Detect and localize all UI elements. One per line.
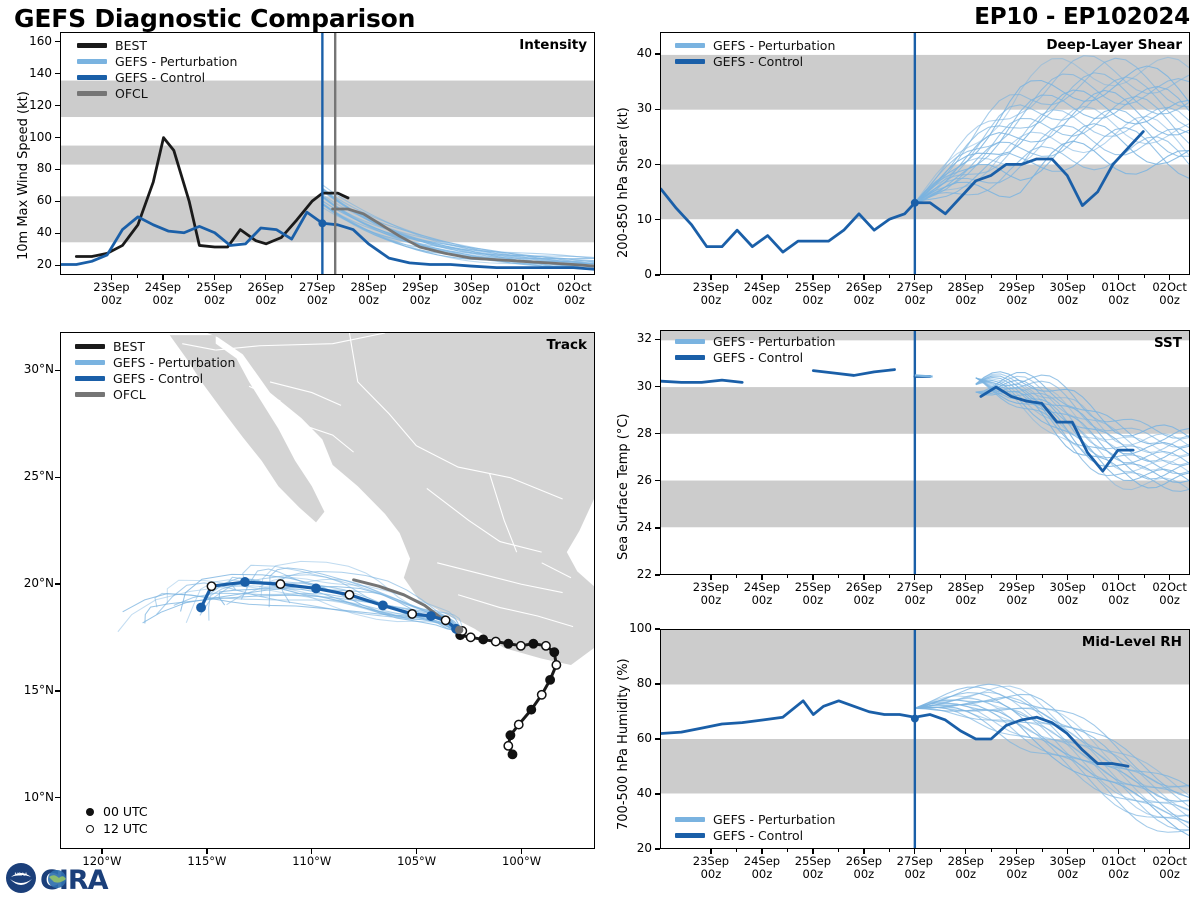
x-tick-mark xyxy=(471,275,472,280)
x-tick-mark xyxy=(111,275,112,280)
x-minor-tick-mark xyxy=(889,575,890,578)
legend-row: GEFS - Control xyxy=(675,54,835,69)
legend-label: GEFS - Control xyxy=(713,350,803,365)
x-tick-date: 28Sep xyxy=(350,280,386,294)
x-tick-hour: 00z xyxy=(410,293,431,307)
x-tick-mark xyxy=(710,275,711,280)
legend-swatch xyxy=(675,833,705,838)
x-tick-date: 28Sep xyxy=(948,580,984,594)
x-minor-tick-mark xyxy=(394,275,395,278)
lon-tick-label: 110°W xyxy=(277,855,347,868)
track-marker-00utc xyxy=(427,612,435,620)
lat-tick-label: 15°N xyxy=(6,683,54,697)
track-marker-12utc xyxy=(441,616,449,624)
y-tick-label: 40 xyxy=(12,225,52,239)
x-tick-mark xyxy=(761,575,762,580)
x-tick-date: 25Sep xyxy=(795,854,831,868)
y-tick-mark xyxy=(655,683,660,684)
sst-panel-title: SST xyxy=(1154,335,1182,351)
y-tick-label: 20 xyxy=(612,841,652,855)
legend-label: GEFS - Perturbation xyxy=(713,334,835,349)
y-tick-mark xyxy=(55,73,60,74)
y-tick-label: 24 xyxy=(612,520,652,534)
x-minor-tick-mark xyxy=(1042,275,1043,278)
track-marker-12utc xyxy=(542,642,550,650)
track-marker-00utc xyxy=(197,603,205,611)
lat-tick-mark xyxy=(55,583,60,584)
x-minor-tick-mark xyxy=(889,849,890,852)
x-tick-hour: 00z xyxy=(564,293,585,307)
control-line xyxy=(661,380,742,382)
x-tick-hour: 00z xyxy=(854,293,875,307)
x-tick-date: 23Sep xyxy=(93,280,129,294)
lat-tick-label: 20°N xyxy=(6,576,54,590)
lon-tick-mark xyxy=(416,849,417,854)
x-minor-tick-mark xyxy=(548,275,549,278)
x-minor-tick-mark xyxy=(240,275,241,278)
lat-tick-label: 30°N xyxy=(6,362,54,376)
x-tick-date: 01Oct xyxy=(1101,580,1136,594)
y-tick-label: 80 xyxy=(612,676,652,690)
y-tick-label: 28 xyxy=(612,426,652,440)
sst-legend: GEFS - PerturbationGEFS - Control xyxy=(675,334,835,366)
x-tick-mark xyxy=(863,575,864,580)
x-minor-tick-mark xyxy=(940,275,941,278)
x-tick-date: 24Sep xyxy=(744,280,780,294)
track-marker-00utc xyxy=(546,676,554,684)
shaded-band xyxy=(661,481,1189,528)
legend-swatch xyxy=(77,59,107,64)
x-minor-tick-mark xyxy=(291,275,292,278)
marker-legend-dot-wrap xyxy=(77,808,103,816)
rh-panel: Mid-Level RH GEFS - PerturbationGEFS - C… xyxy=(660,629,1190,849)
y-tick-label: 30 xyxy=(612,101,652,115)
y-tick-label: 32 xyxy=(612,331,652,345)
track-marker-12utc xyxy=(276,580,284,588)
x-tick-date: 28Sep xyxy=(948,280,984,294)
marker-legend-row: 12 UTC xyxy=(77,820,148,837)
x-tick-date: 26Sep xyxy=(846,280,882,294)
legend-row: GEFS - Control xyxy=(675,350,835,365)
x-tick-mark xyxy=(710,575,711,580)
sst-panel: SST GEFS - PerturbationGEFS - Control xyxy=(660,330,1190,575)
legend-label: GEFS - Perturbation xyxy=(115,54,237,69)
x-tick-date: 30Sep xyxy=(453,280,489,294)
y-tick-label: 26 xyxy=(612,473,652,487)
x-minor-tick-mark xyxy=(787,849,788,852)
track-marker-00utc xyxy=(504,640,512,648)
legend-label: GEFS - Control xyxy=(713,828,803,843)
x-tick-date: 02Oct xyxy=(1152,580,1187,594)
x-tick-mark xyxy=(1169,575,1170,580)
x-minor-tick-mark xyxy=(1093,275,1094,278)
legend-row: BEST xyxy=(77,38,237,53)
x-tick-mark xyxy=(419,275,420,280)
intensity-legend: BESTGEFS - PerturbationGEFS - ControlOFC… xyxy=(77,38,237,102)
lat-tick-label: 25°N xyxy=(6,469,54,483)
x-minor-tick-mark xyxy=(940,849,941,852)
x-tick-hour: 00z xyxy=(358,293,379,307)
track-marker-00utc xyxy=(508,750,516,758)
y-tick-mark xyxy=(655,433,660,434)
legend-swatch xyxy=(75,376,105,381)
y-tick-mark xyxy=(655,738,660,739)
x-tick-mark xyxy=(574,275,575,280)
open-circle-icon xyxy=(86,825,94,833)
x-tick-hour: 00z xyxy=(1006,867,1027,881)
filled-circle-icon xyxy=(86,808,94,816)
legend-label: OFCL xyxy=(113,387,146,402)
x-tick-hour: 00z xyxy=(513,293,534,307)
x-tick-hour: 00z xyxy=(803,867,824,881)
y-tick-label: 10 xyxy=(612,212,652,226)
x-minor-tick-mark xyxy=(736,849,737,852)
x-tick-date: 26Sep xyxy=(846,854,882,868)
legend-label: OFCL xyxy=(115,86,148,101)
x-tick-label: 02Oct00z xyxy=(1137,855,1200,881)
y-tick-mark xyxy=(655,339,660,340)
legend-row: GEFS - Control xyxy=(675,828,835,843)
x-tick-hour: 00z xyxy=(904,593,925,607)
noaa-logo: NOAA xyxy=(6,863,36,893)
x-minor-tick-mark xyxy=(838,575,839,578)
y-tick-mark xyxy=(655,628,660,629)
track-marker-00utc xyxy=(479,635,487,643)
track-marker-00utc xyxy=(550,648,558,656)
x-tick-date: 29Sep xyxy=(402,280,438,294)
x-tick-date: 02Oct xyxy=(557,280,592,294)
x-tick-hour: 00z xyxy=(1057,293,1078,307)
x-tick-mark xyxy=(1169,275,1170,280)
legend-swatch xyxy=(675,59,705,64)
x-tick-mark xyxy=(812,275,813,280)
x-tick-hour: 00z xyxy=(701,293,722,307)
shear-y-axis-label: 200-850 hPa Shear (kt) xyxy=(616,107,631,258)
y-tick-mark xyxy=(655,386,660,387)
x-tick-date: 01Oct xyxy=(1101,854,1136,868)
y-tick-label: 60 xyxy=(612,731,652,745)
track-marker-12utc xyxy=(408,610,416,618)
init-marker-dot xyxy=(911,199,919,207)
svg-text:NOAA: NOAA xyxy=(14,872,28,878)
x-minor-tick-mark xyxy=(991,275,992,278)
x-tick-hour: 00z xyxy=(1057,593,1078,607)
x-tick-hour: 00z xyxy=(752,867,773,881)
x-tick-date: 27Sep xyxy=(897,280,933,294)
track-marker-12utc xyxy=(466,633,474,641)
lon-tick-label: 105°W xyxy=(382,855,452,868)
x-tick-date: 27Sep xyxy=(299,280,335,294)
x-tick-hour: 00z xyxy=(1057,867,1078,881)
x-tick-mark xyxy=(761,849,762,854)
x-minor-tick-mark xyxy=(838,849,839,852)
track-marker-12utc xyxy=(504,742,512,750)
y-tick-mark xyxy=(55,201,60,202)
x-minor-tick-mark xyxy=(1042,575,1043,578)
y-tick-mark xyxy=(55,105,60,106)
x-tick-mark xyxy=(1118,275,1119,280)
x-tick-mark xyxy=(522,275,523,280)
y-tick-mark xyxy=(655,793,660,794)
x-tick-hour: 00z xyxy=(752,293,773,307)
shaded-band xyxy=(61,146,594,165)
x-tick-mark xyxy=(1118,575,1119,580)
x-tick-hour: 00z xyxy=(854,593,875,607)
x-tick-mark xyxy=(761,275,762,280)
x-minor-tick-mark xyxy=(838,275,839,278)
legend-row: GEFS - Perturbation xyxy=(77,54,237,69)
y-tick-label: 40 xyxy=(612,46,652,60)
x-tick-hour: 00z xyxy=(153,293,174,307)
x-tick-mark xyxy=(1169,849,1170,854)
lat-tick-mark xyxy=(55,477,60,478)
cira-logo: CIRA xyxy=(40,865,109,896)
x-tick-hour: 00z xyxy=(1108,293,1129,307)
track-marker-00utc xyxy=(241,578,249,586)
legend-row: GEFS - Perturbation xyxy=(675,812,835,827)
x-tick-hour: 00z xyxy=(307,293,328,307)
x-tick-mark xyxy=(914,275,915,280)
legend-label: GEFS - Perturbation xyxy=(113,355,235,370)
x-minor-tick-mark xyxy=(787,575,788,578)
x-tick-hour: 00z xyxy=(255,293,276,307)
x-tick-hour: 00z xyxy=(904,867,925,881)
y-tick-mark xyxy=(55,137,60,138)
x-tick-hour: 00z xyxy=(1159,867,1180,881)
legend-row: GEFS - Perturbation xyxy=(675,38,835,53)
y-tick-mark xyxy=(55,233,60,234)
x-tick-label: 02Oct00z xyxy=(541,281,607,307)
x-tick-mark xyxy=(1118,849,1119,854)
legend-label: BEST xyxy=(115,38,147,53)
legend-row: GEFS - Perturbation xyxy=(675,334,835,349)
x-tick-mark xyxy=(914,575,915,580)
y-tick-mark xyxy=(55,41,60,42)
shear-panel-title: Deep-Layer Shear xyxy=(1046,37,1182,53)
y-tick-label: 100 xyxy=(612,621,652,635)
y-tick-mark xyxy=(55,169,60,170)
x-tick-date: 30Sep xyxy=(1050,854,1086,868)
marker-legend-label: 00 UTC xyxy=(103,804,148,819)
x-tick-hour: 00z xyxy=(1108,867,1129,881)
x-tick-date: 25Sep xyxy=(795,580,831,594)
x-tick-date: 01Oct xyxy=(1101,280,1136,294)
y-tick-mark xyxy=(655,848,660,849)
x-tick-date: 27Sep xyxy=(897,854,933,868)
track-map-area xyxy=(61,333,594,848)
y-tick-mark xyxy=(655,164,660,165)
x-tick-mark xyxy=(1067,849,1068,854)
x-tick-date: 29Sep xyxy=(999,580,1035,594)
shear-panel: Deep-Layer Shear GEFS - PerturbationGEFS… xyxy=(660,32,1190,275)
track-marker-00utc xyxy=(527,705,535,713)
legend-label: GEFS - Control xyxy=(713,54,803,69)
x-tick-mark xyxy=(863,849,864,854)
x-tick-hour: 00z xyxy=(701,867,722,881)
x-tick-hour: 00z xyxy=(1159,593,1180,607)
legend-row: GEFS - Control xyxy=(77,70,237,85)
track-marker-12utc xyxy=(207,582,215,590)
y-tick-label: 30 xyxy=(612,379,652,393)
control-line xyxy=(813,370,894,376)
x-tick-mark xyxy=(1067,275,1068,280)
x-tick-hour: 00z xyxy=(803,593,824,607)
track-marker-00utc xyxy=(379,601,387,609)
x-tick-mark xyxy=(214,275,215,280)
x-tick-hour: 00z xyxy=(701,593,722,607)
track-legend: BESTGEFS - PerturbationGEFS - ControlOFC… xyxy=(75,339,235,403)
x-tick-date: 24Sep xyxy=(744,854,780,868)
x-tick-hour: 00z xyxy=(955,867,976,881)
x-tick-mark xyxy=(368,275,369,280)
x-minor-tick-mark xyxy=(1144,575,1145,578)
x-tick-label: 02Oct00z xyxy=(1137,281,1200,307)
x-tick-hour: 00z xyxy=(752,593,773,607)
x-minor-tick-mark xyxy=(497,275,498,278)
x-tick-mark xyxy=(1016,849,1017,854)
x-tick-date: 28Sep xyxy=(948,854,984,868)
legend-swatch xyxy=(675,43,705,48)
x-tick-hour: 00z xyxy=(955,593,976,607)
legend-swatch xyxy=(675,355,705,360)
legend-label: BEST xyxy=(113,339,145,354)
x-tick-mark xyxy=(265,275,266,280)
x-minor-tick-mark xyxy=(137,275,138,278)
ofcl-endpoint-marker xyxy=(455,626,463,634)
x-minor-tick-mark xyxy=(991,849,992,852)
y-tick-label: 120 xyxy=(12,98,52,112)
legend-row: GEFS - Control xyxy=(75,371,235,386)
y-tick-mark xyxy=(655,274,660,275)
legend-row: OFCL xyxy=(75,387,235,402)
track-panel: Track BESTGEFS - PerturbationGEFS - Cont… xyxy=(60,332,595,849)
intensity-panel: Intensity BESTGEFS - PerturbationGEFS - … xyxy=(60,32,595,275)
x-minor-tick-mark xyxy=(188,275,189,278)
legend-label: GEFS - Perturbation xyxy=(713,38,835,53)
x-tick-date: 24Sep xyxy=(145,280,181,294)
x-tick-mark xyxy=(1016,575,1017,580)
lon-tick-label: 115°W xyxy=(172,855,242,868)
marker-legend-label: 12 UTC xyxy=(103,821,148,836)
track-marker-legend: 00 UTC12 UTC xyxy=(77,803,148,837)
legend-label: GEFS - Perturbation xyxy=(713,812,835,827)
x-minor-tick-mark xyxy=(889,275,890,278)
figure-root: GEFS Diagnostic Comparison EP10 - EP1020… xyxy=(0,0,1200,900)
x-minor-tick-mark xyxy=(342,275,343,278)
x-tick-mark xyxy=(863,275,864,280)
x-tick-mark xyxy=(812,575,813,580)
x-tick-mark xyxy=(710,849,711,854)
x-tick-mark xyxy=(812,849,813,854)
legend-label: GEFS - Control xyxy=(115,70,205,85)
track-panel-title: Track xyxy=(547,337,587,353)
x-minor-tick-mark xyxy=(991,575,992,578)
x-tick-hour: 00z xyxy=(461,293,482,307)
track-marker-00utc xyxy=(312,584,320,592)
y-tick-label: 100 xyxy=(12,130,52,144)
intensity-panel-title: Intensity xyxy=(519,37,587,53)
x-tick-hour: 00z xyxy=(904,293,925,307)
lat-tick-label: 10°N xyxy=(6,790,54,804)
x-tick-date: 23Sep xyxy=(693,280,729,294)
y-tick-mark xyxy=(655,480,660,481)
legend-row: GEFS - Perturbation xyxy=(75,355,235,370)
x-tick-hour: 00z xyxy=(854,867,875,881)
x-tick-date: 23Sep xyxy=(693,580,729,594)
x-tick-hour: 00z xyxy=(1159,293,1180,307)
x-minor-tick-mark xyxy=(1093,849,1094,852)
lat-tick-mark xyxy=(55,690,60,691)
shear-legend: GEFS - PerturbationGEFS - Control xyxy=(675,38,835,70)
x-tick-mark xyxy=(965,575,966,580)
y-tick-mark xyxy=(655,109,660,110)
x-minor-tick-mark xyxy=(787,275,788,278)
x-tick-date: 30Sep xyxy=(1050,280,1086,294)
legend-swatch xyxy=(75,344,105,349)
x-tick-date: 02Oct xyxy=(1152,854,1187,868)
track-marker-12utc xyxy=(345,591,353,599)
legend-swatch xyxy=(77,91,107,96)
y-tick-label: 22 xyxy=(612,567,652,581)
x-tick-mark xyxy=(965,275,966,280)
track-marker-12utc xyxy=(492,637,500,645)
track-marker-12utc xyxy=(538,691,546,699)
x-minor-tick-mark xyxy=(445,275,446,278)
x-minor-tick-mark xyxy=(736,275,737,278)
legend-row: BEST xyxy=(75,339,235,354)
init-marker-dot xyxy=(911,715,919,723)
y-tick-label: 40 xyxy=(612,786,652,800)
x-tick-mark xyxy=(317,275,318,280)
x-tick-date: 25Sep xyxy=(795,280,831,294)
legend-swatch xyxy=(75,392,105,397)
legend-swatch xyxy=(675,817,705,822)
lon-tick-label: 100°W xyxy=(487,855,557,868)
x-tick-mark xyxy=(914,849,915,854)
rh-panel-title: Mid-Level RH xyxy=(1082,634,1182,650)
y-tick-label: 160 xyxy=(12,34,52,48)
legend-swatch xyxy=(77,75,107,80)
x-minor-tick-mark xyxy=(1144,849,1145,852)
lon-tick-mark xyxy=(311,849,312,854)
track-marker-12utc xyxy=(515,720,523,728)
track-marker-12utc xyxy=(552,661,560,669)
rh-legend: GEFS - PerturbationGEFS - Control xyxy=(675,812,835,844)
track-marker-00utc xyxy=(529,640,537,648)
page-title: GEFS Diagnostic Comparison xyxy=(14,4,415,33)
x-tick-date: 26Sep xyxy=(248,280,284,294)
x-tick-date: 26Sep xyxy=(846,580,882,594)
x-tick-hour: 00z xyxy=(204,293,225,307)
lon-tick-mark xyxy=(521,849,522,854)
agency-logos: NOAA CIRA xyxy=(4,857,144,899)
lat-tick-mark xyxy=(55,370,60,371)
y-tick-mark xyxy=(655,527,660,528)
x-tick-date: 27Sep xyxy=(897,580,933,594)
sst-plot-area xyxy=(661,331,1189,574)
legend-row: OFCL xyxy=(77,86,237,101)
y-tick-label: 20 xyxy=(12,257,52,271)
x-minor-tick-mark xyxy=(1042,849,1043,852)
legend-swatch xyxy=(675,339,705,344)
init-marker-dot xyxy=(318,219,326,227)
y-tick-label: 60 xyxy=(12,193,52,207)
marker-legend-dot-wrap xyxy=(77,825,103,833)
x-tick-date: 01Oct xyxy=(506,280,541,294)
x-tick-hour: 00z xyxy=(1006,593,1027,607)
x-tick-date: 29Sep xyxy=(999,854,1035,868)
track-marker-00utc xyxy=(506,731,514,739)
